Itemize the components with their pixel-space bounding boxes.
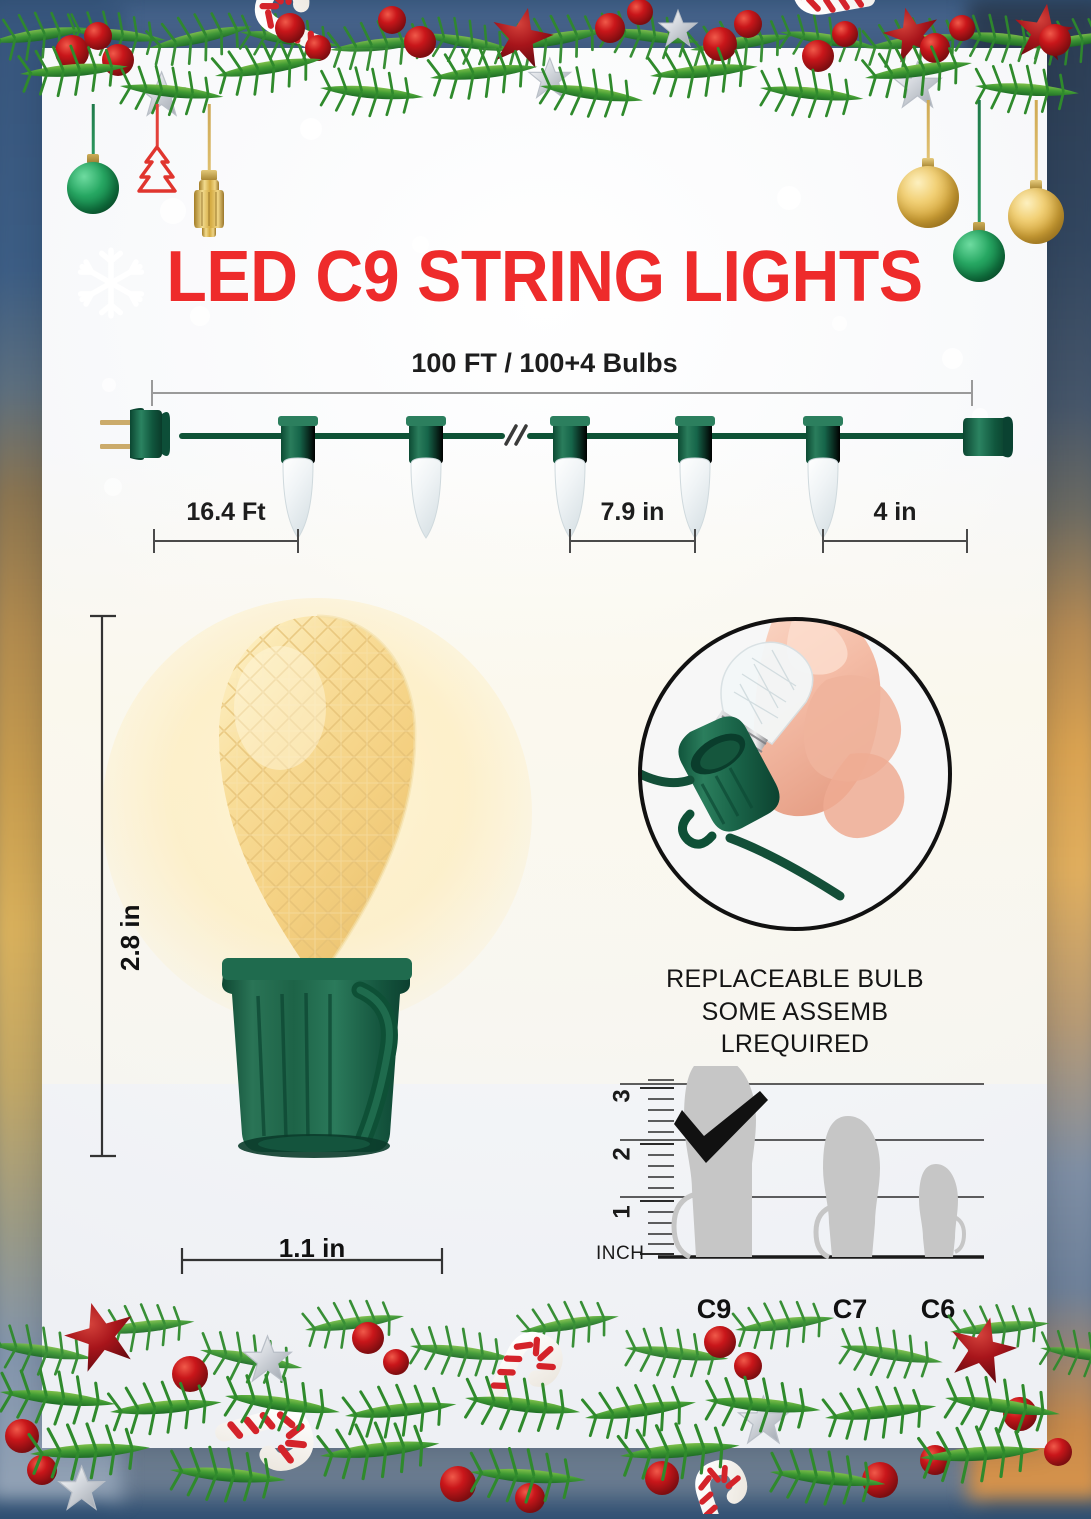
green-two-prong-plug-icon — [100, 408, 170, 460]
dimension-line-lead — [154, 529, 298, 553]
bokeh-dot — [777, 186, 801, 210]
ruler-label-3: 3 — [609, 1089, 637, 1102]
bulb-silhouette-c6 — [919, 1164, 964, 1257]
bulb-silhouette-c7 — [816, 1116, 880, 1257]
page-title: LED C9 STRING LIGHTS — [82, 236, 1007, 318]
green-socket-icon — [222, 958, 412, 1158]
ruler-label-2: 2 — [609, 1147, 637, 1160]
size-label-c9: C9 — [676, 1294, 752, 1325]
dimension-line-height — [90, 616, 116, 1156]
dimension-line-spacing — [570, 529, 695, 553]
hand-inserting-bulb-photo-icon — [630, 614, 960, 944]
string-diagram: 100 FT / 100+4 Bulbs — [42, 348, 1047, 578]
bulb-silhouette-c9 — [674, 1066, 756, 1257]
ruler-unit-label: INCH — [596, 1243, 644, 1265]
size-label-c7: C7 — [812, 1294, 888, 1325]
ruler-label-1: 1 — [609, 1205, 637, 1218]
wire-break-marks — [506, 426, 526, 444]
caption-line-2: SOME ASSEMB LREQUIRED — [630, 996, 960, 1061]
bokeh-dot — [300, 118, 322, 140]
replaceable-bulb-caption: REPLACEABLE BULB SOME ASSEMB LREQUIRED — [630, 963, 960, 1061]
dimension-label-tail: 4 in — [823, 498, 967, 527]
bulb-width-label: 1.1 in — [182, 1233, 442, 1264]
dimension-line-tail — [823, 529, 967, 553]
dimension-label-spacing: 7.9 in — [570, 498, 695, 527]
info-card: LED C9 STRING LIGHTS 100 FT / 100+4 Bulb… — [42, 48, 1047, 1448]
bulb-height-label: 2.8 in — [115, 905, 146, 971]
bulb-size-comparison-chart: 3 2 1 INCH C9 C7 C6 — [602, 1066, 1002, 1321]
bokeh-dot — [160, 198, 186, 224]
replaceable-bulb-callout: REPLACEABLE BULB SOME ASSEMB LREQUIRED — [630, 614, 960, 1061]
bokeh-dot — [832, 316, 847, 331]
size-label-c6: C6 — [900, 1294, 976, 1325]
ruler-ticks — [640, 1080, 674, 1254]
total-dimension-line — [152, 380, 972, 406]
dimension-label-lead: 16.4 Ft — [154, 498, 298, 527]
caption-line-1: REPLACEABLE BULB — [630, 963, 960, 996]
green-end-connector-icon — [963, 417, 1013, 458]
